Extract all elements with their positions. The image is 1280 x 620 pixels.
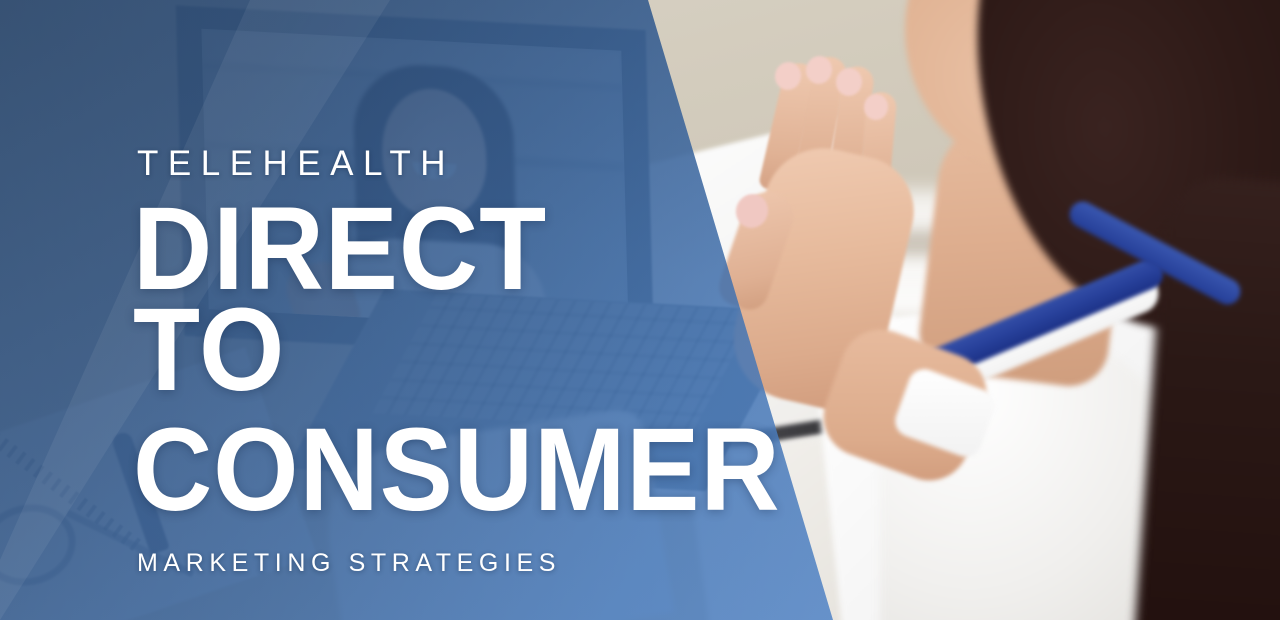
page-title: DIRECT TO CONSUMER <box>133 199 654 521</box>
banner-text-block: TELEHEALTH DIRECT TO CONSUMER MARKETING … <box>133 146 693 576</box>
telehealth-marketing-banner: TELEHEALTH DIRECT TO CONSUMER MARKETING … <box>0 0 1280 620</box>
eyebrow-text: TELEHEALTH <box>137 146 693 181</box>
headline-line-1: DIRECT TO <box>133 183 547 416</box>
headline-line-2: CONSUMER <box>133 420 654 521</box>
subline-text: MARKETING STRATEGIES <box>137 551 693 576</box>
